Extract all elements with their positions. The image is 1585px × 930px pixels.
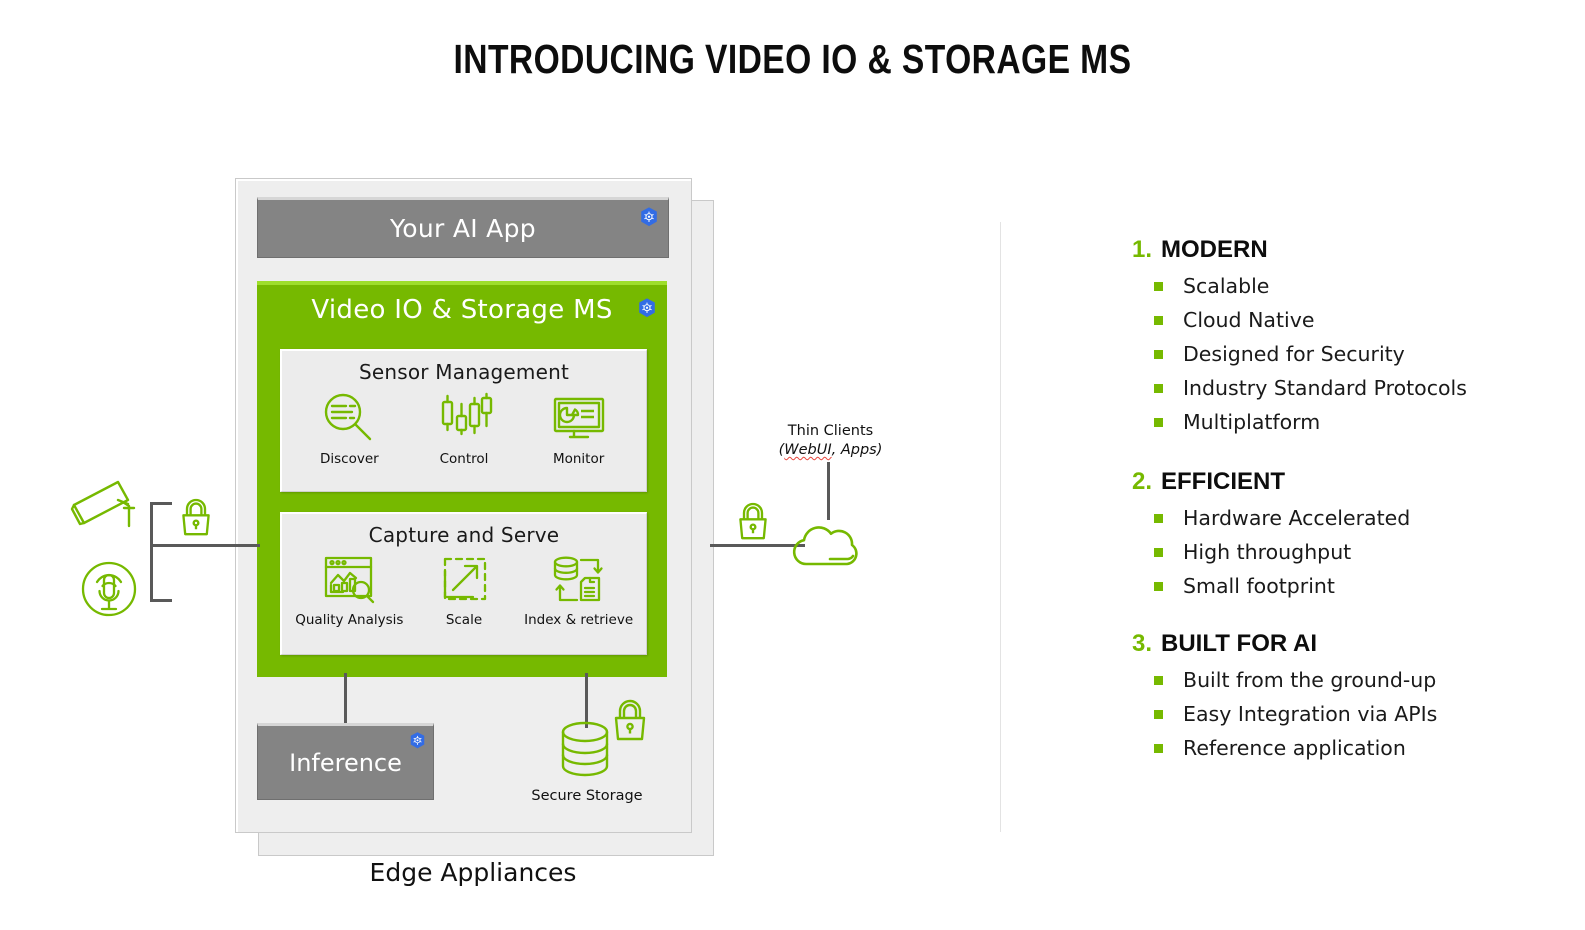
- feature-quality-analysis[interactable]: Quality Analysis: [293, 553, 405, 628]
- thin-clients-spellcheck-word: WebUI: [784, 442, 831, 458]
- capture-and-serve-card: Capture and Serve: [280, 512, 647, 655]
- feature-monitor-label: Monitor: [553, 451, 604, 467]
- bullet-square-icon: [1154, 582, 1163, 591]
- feature-list-item-label: High throughput: [1183, 540, 1351, 564]
- feature-discover[interactable]: Discover: [293, 390, 405, 467]
- feature-monitor[interactable]: Monitor: [523, 390, 635, 467]
- feature-group-number: 1.: [1132, 236, 1152, 264]
- edge-appliances-caption: Edge Appliances: [258, 858, 688, 887]
- sensor-management-card: Sensor Management Discover: [280, 349, 647, 492]
- bullet-square-icon: [1154, 744, 1163, 753]
- feature-scale-label: Scale: [446, 612, 482, 628]
- thin-clients-label-group: Thin Clients (WebUI, Apps): [743, 422, 918, 460]
- thin-clients-sublabel: (WebUI, Apps): [743, 441, 918, 460]
- sensor-management-icons: Discover Control: [282, 390, 646, 467]
- bullet-square-icon: [1154, 282, 1163, 291]
- feature-group-title: BUILT FOR AI: [1161, 630, 1317, 658]
- cloud-icon-wrap: [790, 518, 868, 574]
- feature-list-item: Hardware Accelerated: [1154, 506, 1562, 530]
- feature-list-item-label: Small footprint: [1183, 574, 1335, 598]
- feature-group-title: MODERN: [1161, 236, 1268, 264]
- browser-chart-magnifier-icon: [320, 553, 378, 607]
- feature-list-item-label: Multiplatform: [1183, 410, 1320, 434]
- dashed-box-arrow-icon: [435, 553, 493, 607]
- feature-list-item-label: Scalable: [1183, 274, 1269, 298]
- security-camera-icon-wrap: [70, 478, 148, 540]
- feature-group-title: EFFICIENT: [1161, 468, 1285, 496]
- feature-scale[interactable]: Scale: [408, 553, 520, 628]
- feature-group-number: 3.: [1132, 630, 1152, 658]
- kubernetes-icon: [408, 731, 427, 750]
- kubernetes-icon: [638, 206, 660, 228]
- padlock-icon-storage-wrap: [610, 697, 650, 749]
- video-io-storage-ms-block[interactable]: Video IO & Storage MS Sensor Management: [257, 281, 667, 677]
- features-list: 1. MODERN Scalable Cloud Native Designed…: [1132, 236, 1562, 786]
- magnifier-list-icon: [320, 390, 378, 446]
- feature-list-item: Designed for Security: [1154, 342, 1562, 366]
- connector-thin-clients: [827, 462, 830, 520]
- bracket-top-arm: [150, 502, 172, 505]
- feature-index-retrieve[interactable]: Index & retrieve: [523, 553, 635, 628]
- microphone-icon: [80, 560, 138, 618]
- feature-list-item: Scalable: [1154, 274, 1562, 298]
- padlock-icon: [735, 500, 771, 544]
- bullet-square-icon: [1154, 710, 1163, 719]
- feature-control[interactable]: Control: [408, 390, 520, 467]
- bullet-square-icon: [1154, 676, 1163, 685]
- page-title: INTRODUCING VIDEO IO & STORAGE MS: [143, 36, 1443, 83]
- security-camera-icon: [70, 478, 148, 536]
- feature-group-heading: 1. MODERN: [1132, 236, 1562, 264]
- feature-group-heading: 2. EFFICIENT: [1132, 468, 1562, 496]
- section-divider: [1000, 222, 1001, 832]
- feature-index-retrieve-label: Index & retrieve: [524, 612, 633, 628]
- cloud-icon: [790, 518, 868, 570]
- capture-and-serve-icons: Quality Analysis Scale: [282, 553, 646, 628]
- bracket-vertical: [150, 502, 153, 602]
- sensor-management-title: Sensor Management: [282, 360, 646, 384]
- feature-group-number: 2.: [1132, 468, 1152, 496]
- kubernetes-icon: [636, 297, 658, 319]
- feature-group-built-for-ai: 3. BUILT FOR AI Built from the ground-up…: [1132, 630, 1562, 760]
- monitor-chart-icon: [550, 390, 608, 446]
- your-ai-app-block[interactable]: Your AI App: [257, 197, 669, 258]
- connector-inference: [344, 673, 347, 723]
- secure-storage-icon-group: [553, 718, 617, 794]
- feature-quality-analysis-label: Quality Analysis: [295, 612, 403, 628]
- thin-clients-label: Thin Clients: [743, 422, 918, 441]
- your-ai-app-label: Your AI App: [390, 214, 536, 243]
- database-cylinder-icon: [553, 718, 617, 790]
- feature-group-modern: 1. MODERN Scalable Cloud Native Designed…: [1132, 236, 1562, 434]
- candlestick-sliders-icon: [435, 390, 493, 446]
- left-link-line: [150, 544, 260, 547]
- feature-list-item: Multiplatform: [1154, 410, 1562, 434]
- feature-list-item: Built from the ground-up: [1154, 668, 1562, 692]
- feature-list-item: Easy Integration via APIs: [1154, 702, 1562, 726]
- feature-list-item: High throughput: [1154, 540, 1562, 564]
- feature-list-item: Small footprint: [1154, 574, 1562, 598]
- feature-list-item-label: Cloud Native: [1183, 308, 1314, 332]
- feature-list-item-label: Designed for Security: [1183, 342, 1405, 366]
- feature-list-item-label: Reference application: [1183, 736, 1406, 760]
- feature-control-label: Control: [440, 451, 489, 467]
- inference-label: Inference: [289, 749, 402, 777]
- padlock-icon: [610, 697, 650, 745]
- feature-list-item: Cloud Native: [1154, 308, 1562, 332]
- microphone-icon-wrap: [80, 560, 138, 622]
- bullet-square-icon: [1154, 418, 1163, 427]
- padlock-icon-right-wrap: [735, 500, 771, 548]
- inference-block[interactable]: Inference: [257, 723, 434, 800]
- feature-discover-label: Discover: [320, 451, 379, 467]
- padlock-icon: [178, 496, 214, 540]
- feature-list-item-label: Industry Standard Protocols: [1183, 376, 1467, 400]
- feature-group-efficient: 2. EFFICIENT Hardware Accelerated High t…: [1132, 468, 1562, 598]
- feature-list-item-label: Built from the ground-up: [1183, 668, 1436, 692]
- video-io-storage-ms-label: Video IO & Storage MS: [257, 295, 667, 325]
- padlock-icon-left-wrap: [178, 496, 214, 544]
- bullet-square-icon: [1154, 350, 1163, 359]
- bullet-square-icon: [1154, 384, 1163, 393]
- feature-list-item: Reference application: [1154, 736, 1562, 760]
- feature-list-item: Industry Standard Protocols: [1154, 376, 1562, 400]
- slide-canvas: INTRODUCING VIDEO IO & STORAGE MS Your A…: [0, 0, 1585, 930]
- secure-storage-label: Secure Storage: [497, 788, 677, 804]
- feature-list-item-label: Easy Integration via APIs: [1183, 702, 1437, 726]
- bracket-bottom-arm: [150, 599, 172, 602]
- feature-group-heading: 3. BUILT FOR AI: [1132, 630, 1562, 658]
- capture-and-serve-title: Capture and Serve: [282, 523, 646, 547]
- bullet-square-icon: [1154, 316, 1163, 325]
- bullet-square-icon: [1154, 514, 1163, 523]
- database-document-cycle-icon: [550, 553, 608, 607]
- bullet-square-icon: [1154, 548, 1163, 557]
- feature-list-item-label: Hardware Accelerated: [1183, 506, 1410, 530]
